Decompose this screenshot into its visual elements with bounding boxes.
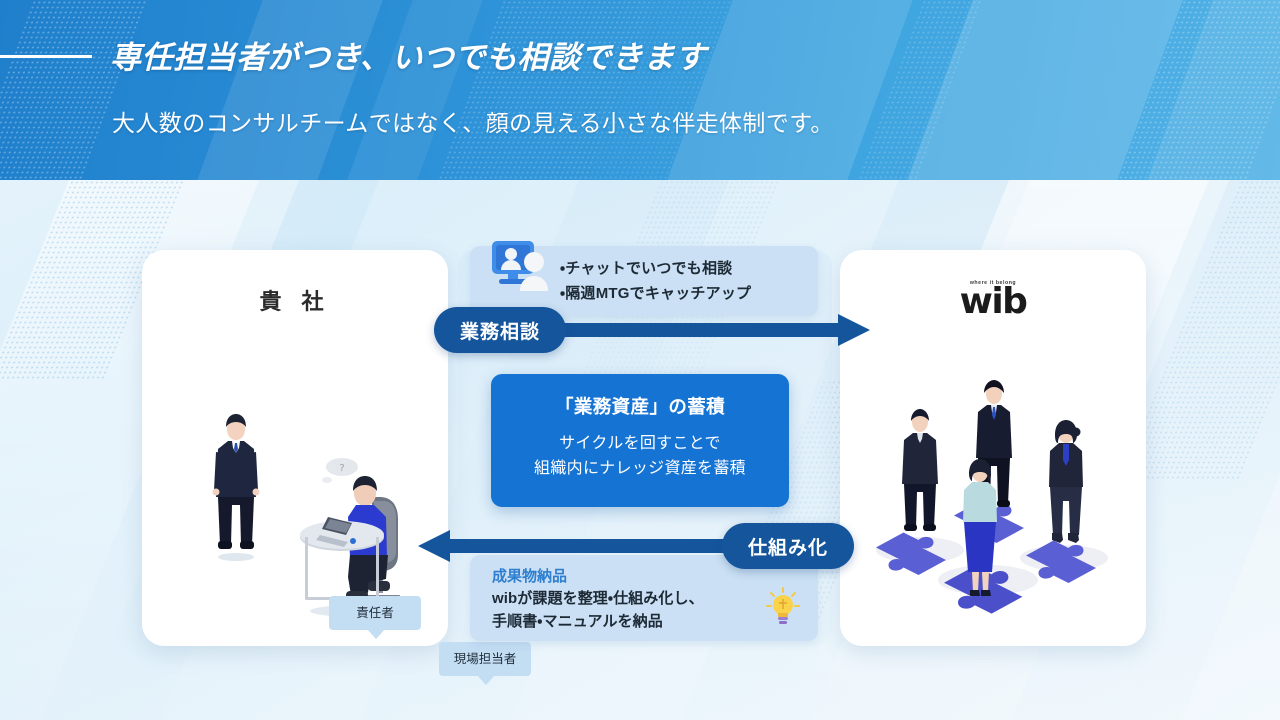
header-dots-1 bbox=[0, 0, 162, 180]
chat-item-0: ・チャットでいつでも相談 bbox=[560, 257, 751, 282]
chat-item-1: ・隔週MTGでキャッチアップ bbox=[560, 282, 751, 307]
asset-accumulation-line2: 組織内にナレッジ資産を蓄積 bbox=[491, 457, 789, 482]
team-puzzle-illustration bbox=[858, 380, 1130, 640]
client-company-card: 貴 社 ? bbox=[142, 250, 448, 646]
chat-consultation-list: ・チャットでいつでも相談 ・隔週MTGでキャッチアップ bbox=[560, 257, 751, 307]
field-staff-desk-illustration: ? bbox=[294, 455, 422, 617]
arrow-label-systemization: 仕組み化 bbox=[722, 523, 854, 569]
slide-header: 専任担当者がつき、いつでも相談できます 大人数のコンサルチームではなく、顔の見え… bbox=[0, 0, 1280, 180]
manager-illustration bbox=[210, 410, 262, 562]
svg-text:?: ? bbox=[339, 463, 344, 474]
asset-accumulation-title: 「業務資産」の蓄積 bbox=[491, 393, 789, 419]
asset-accumulation-line1: サイクルを回すことで bbox=[491, 432, 789, 457]
client-card-title: 貴 社 bbox=[142, 284, 448, 316]
deliverable-line2: 手順書・マニュアルを納品 bbox=[492, 611, 704, 634]
lightbulb-icon bbox=[766, 587, 800, 627]
deliverable-body: wibが課題を整理・仕組み化し、 手順書・マニュアルを納品 bbox=[492, 588, 704, 633]
arrow-label-consultation: 業務相談 bbox=[434, 307, 566, 353]
label-field-staff: 現場担当者 bbox=[439, 642, 531, 676]
deliverable-line1: wibが課題を整理・仕組み化し、 bbox=[492, 588, 704, 611]
page-title: 専任担当者がつき、いつでも相談できます bbox=[110, 32, 706, 77]
slide-root: 専任担当者がつき、いつでも相談できます 大人数のコンサルチームではなく、顔の見え… bbox=[0, 0, 1280, 720]
asset-accumulation-box: 「業務資産」の蓄積 サイクルを回すことで 組織内にナレッジ資産を蓄積 bbox=[491, 374, 789, 507]
asset-accumulation-body: サイクルを回すことで 組織内にナレッジ資産を蓄積 bbox=[491, 432, 789, 482]
page-subtitle: 大人数のコンサルチームではなく、顔の見える小さな伴走体制です。 bbox=[112, 104, 834, 138]
wib-company-card: where it belong wib bbox=[840, 250, 1146, 646]
wib-logo-mark: wib bbox=[840, 284, 1146, 320]
wib-logo: where it belong wib bbox=[840, 280, 1146, 320]
deliverable-title: 成果物納品 bbox=[492, 565, 567, 586]
video-call-icon bbox=[490, 238, 556, 294]
label-manager: 責任者 bbox=[329, 596, 421, 630]
header-accent-line bbox=[0, 55, 92, 58]
